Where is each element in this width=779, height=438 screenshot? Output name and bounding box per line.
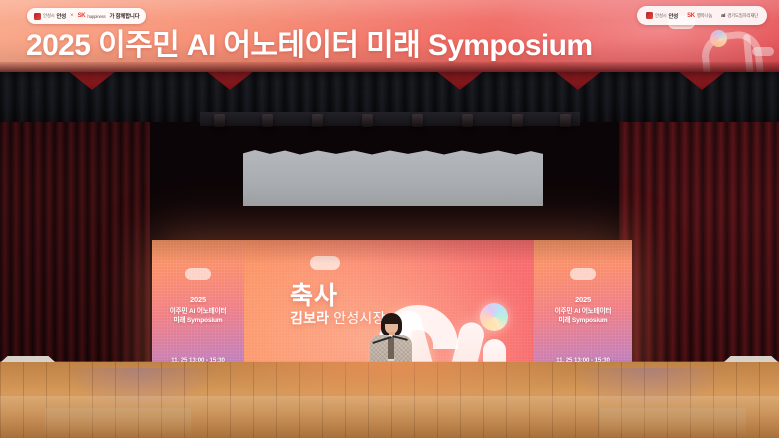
sk-logo-icon: SK happiness <box>78 13 106 19</box>
auditorium-hall: 축사 김보라안성시장 <box>0 70 779 438</box>
anseong-logo-icon: 안성시 안성 <box>646 12 678 20</box>
stage-spotlight <box>462 114 473 127</box>
wing-reflection <box>600 408 746 438</box>
banner-title: 2025 이주민 AI 어노테이터 미래 Symposium <box>26 20 592 64</box>
banner-right-logo-badge: 안성시 안성 SK 행복나눔 ai 경기도일자리재단 <box>637 6 767 25</box>
stage-spotlight <box>214 114 225 127</box>
top-banner: 안성시 안성 × SK happiness 가 함께합니다 안성시 안성 SK … <box>0 0 779 72</box>
back-wall-panel <box>243 150 543 206</box>
sk-logo-icon: SK 행복나눔 <box>687 13 712 19</box>
multiply-icon: × <box>70 13 74 19</box>
decorative-pill <box>752 47 774 56</box>
anseong-logo-icon: 안성시 안성 <box>34 12 66 20</box>
lighting-truss <box>200 112 580 126</box>
stage-spotlight <box>512 114 523 127</box>
stage-spotlight <box>262 114 273 127</box>
stage-spotlight <box>560 114 571 127</box>
banner-tagline: 가 함께합니다 <box>110 12 140 20</box>
stage-spotlight <box>412 114 423 127</box>
partner-logo-icon: ai 경기도일자리재단 <box>721 13 758 19</box>
stage-spotlight <box>362 114 373 127</box>
iridescent-sphere-icon <box>710 30 727 47</box>
stage-photo: 축사 김보라안성시장 <box>0 0 779 438</box>
wing-reflection <box>45 408 191 438</box>
stage-spotlight <box>312 114 323 127</box>
